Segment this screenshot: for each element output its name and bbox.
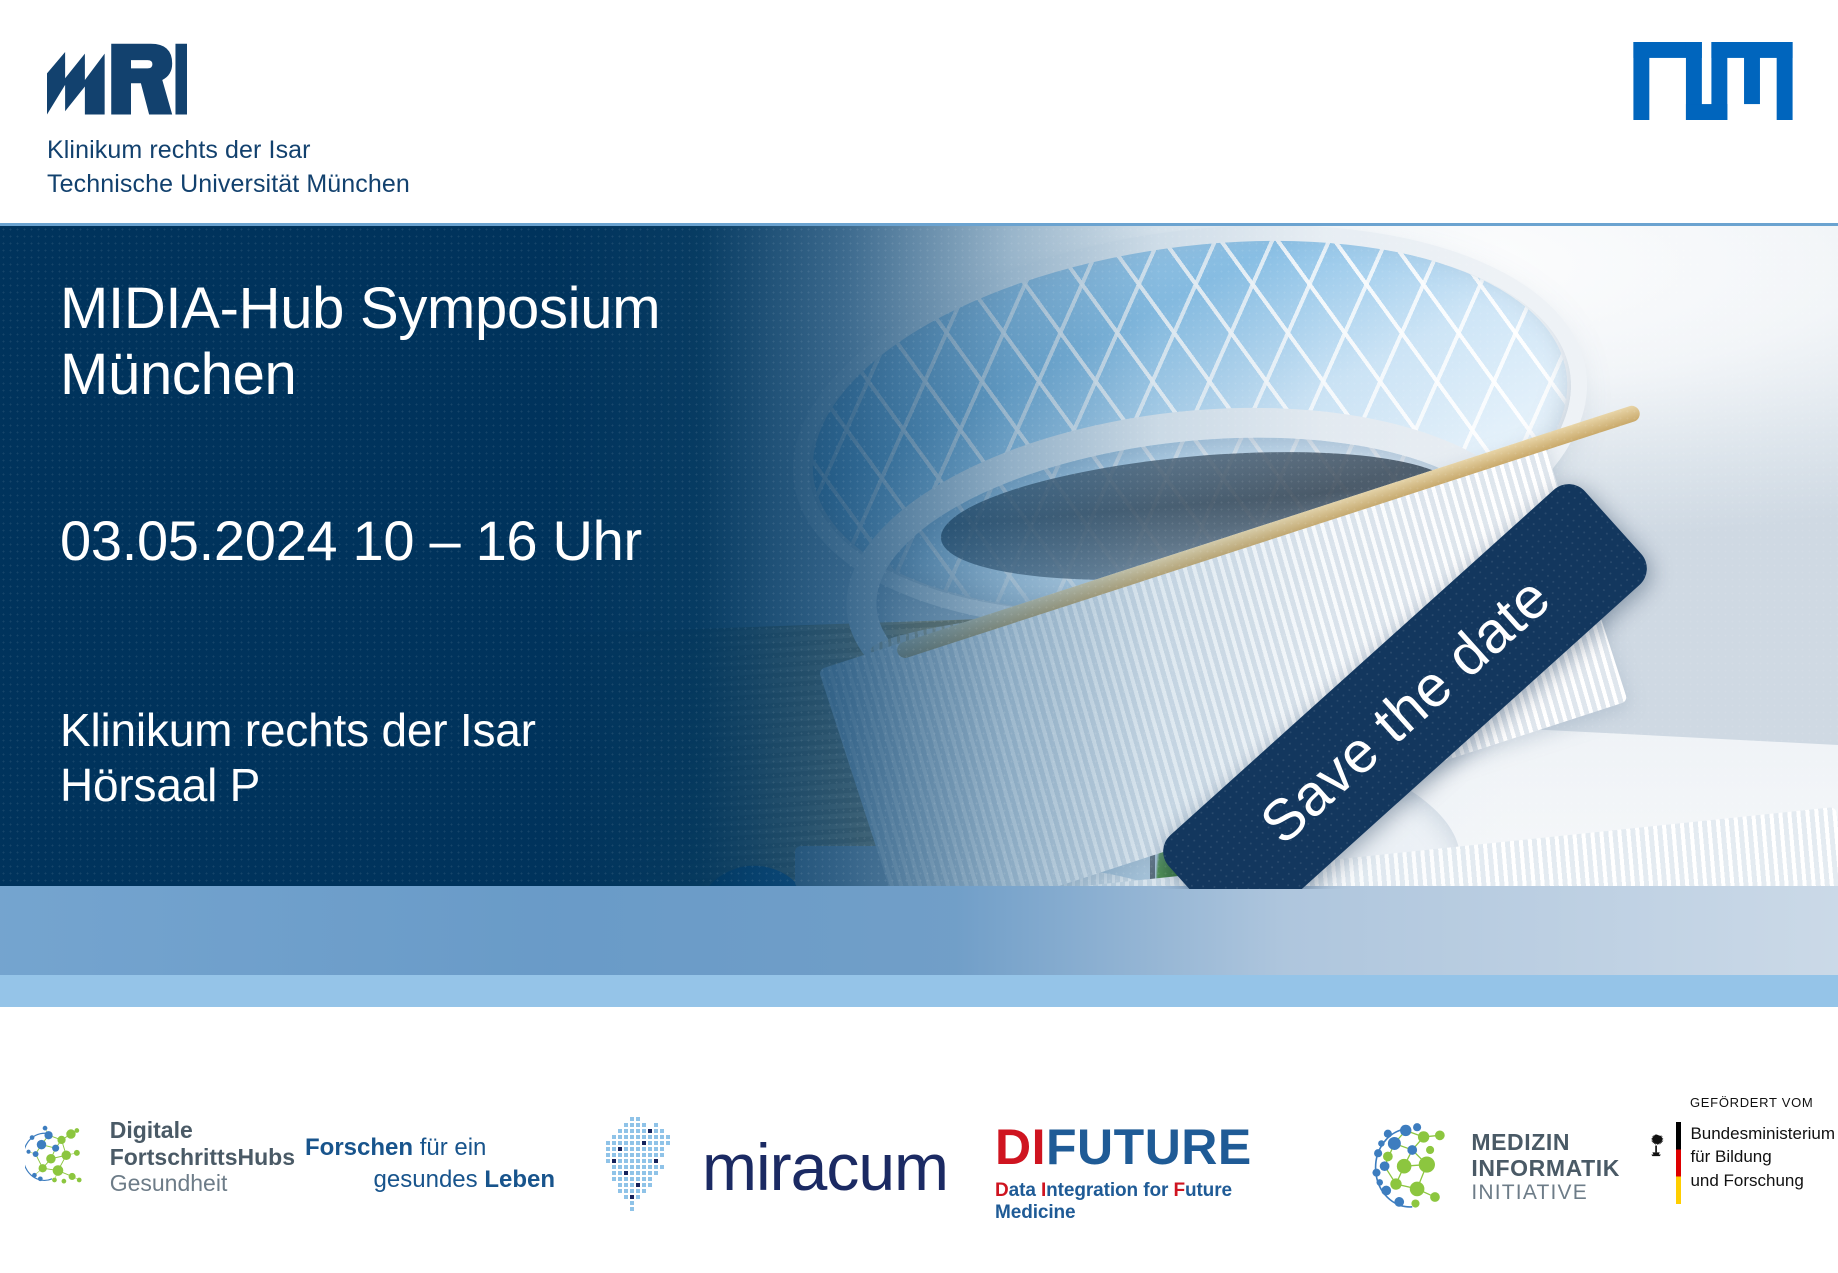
bmbf-line3: und Forschung: [1690, 1169, 1835, 1192]
german-flag-bar: [1676, 1122, 1681, 1204]
hero-date: 03.05.2024 10 – 16 Uhr: [60, 508, 820, 573]
difuture-sub-medicine: Medicine: [995, 1202, 1076, 1223]
difuture-sub-uture: uture: [1185, 1180, 1232, 1201]
forschen-bold1: Forschen: [305, 1134, 413, 1161]
hero-title: MIDIA-Hub Symposium München: [60, 276, 820, 408]
difuture-tagline: Data Integration for Future Medicine: [995, 1180, 1295, 1224]
logo-forschen-fuer-ein-gesundes-leben: Forschen für ein gesundes Leben: [305, 1132, 555, 1195]
mri-subtitle-line2: Technische Universität München: [47, 167, 347, 201]
difuture-sub-d: D: [995, 1180, 1009, 1201]
mii-line3: INITIATIVE: [1471, 1181, 1620, 1205]
difuture-sub-ata: ata: [1009, 1180, 1041, 1201]
logo-medizininformatik-initiative: MEDIZIN INFORMATIK INITIATIVE: [1370, 1107, 1620, 1227]
forschen-bold2: Leben: [484, 1166, 555, 1193]
difuture-future: FUTURE: [1046, 1119, 1252, 1175]
logo-miracum: miracum: [600, 1112, 970, 1222]
difuture-di: DI: [995, 1119, 1046, 1175]
logo-difuture: DIFUTURE Data Integration for Future Med…: [995, 1122, 1295, 1224]
hero-bottom-band: [0, 886, 1838, 975]
forschen-rest1: für ein: [413, 1134, 486, 1161]
mii-line2: INFORMATIK: [1471, 1155, 1620, 1181]
hub-line2: FortschrittsHubs: [110, 1144, 295, 1171]
mri-mark-icon: [47, 34, 187, 116]
hub-line3: Gesundheit: [110, 1170, 295, 1197]
logo-digitale-fortschrittshubs: Digitale FortschrittsHubs Gesundheit: [25, 1102, 295, 1212]
bmbf-funded-by-label: GEFÖRDERT VOM: [1690, 1095, 1835, 1110]
hero-venue: Klinikum rechts der Isar Hörsaal P: [60, 703, 820, 813]
tum-logo-icon: [1633, 42, 1793, 120]
hero-bottom-band-tint: [0, 886, 1838, 975]
federal-eagle-icon: [1645, 1122, 1667, 1168]
hero-light-band: [0, 975, 1838, 1007]
footer-logo-strip: Digitale FortschrittsHubs Gesundheit For…: [0, 1007, 1838, 1273]
forschen-rest2: gesundes: [374, 1166, 485, 1193]
hero-title-line1: MIDIA-Hub Symposium: [60, 276, 820, 342]
miracum-wordmark: miracum: [702, 1134, 948, 1200]
logo-bmbf: GEFÖRDERT VOM Bundesministerium für Bild…: [1645, 1095, 1835, 1204]
mii-line1: MEDIZIN: [1471, 1129, 1620, 1155]
hero-title-line2: München: [60, 342, 820, 408]
difuture-sub-f: F: [1173, 1180, 1185, 1201]
hero-text-block: MIDIA-Hub Symposium München 03.05.2024 1…: [60, 226, 820, 814]
mii-network-c-icon: [1370, 1108, 1459, 1226]
mri-subtitle-line1: Klinikum rechts der Isar: [47, 133, 347, 167]
difuture-sub-ntegration: ntegration for: [1046, 1180, 1173, 1201]
hero-venue-line2: Hörsaal P: [60, 758, 820, 813]
network-nodes-icon: [25, 1102, 96, 1212]
page-header: Klinikum rechts der Isar Technische Univ…: [0, 0, 1838, 223]
bmbf-line1: Bundesministerium: [1690, 1122, 1835, 1145]
bmbf-line2: für Bildung: [1690, 1145, 1835, 1168]
hub-line1: Digitale: [110, 1117, 295, 1144]
mri-logo: Klinikum rechts der Isar Technische Univ…: [47, 34, 347, 201]
hero-banner: MIDIA-Hub Symposium München 03.05.2024 1…: [0, 223, 1838, 889]
hero-venue-line1: Klinikum rechts der Isar: [60, 703, 820, 758]
germany-map-dots-icon: [600, 1115, 686, 1219]
